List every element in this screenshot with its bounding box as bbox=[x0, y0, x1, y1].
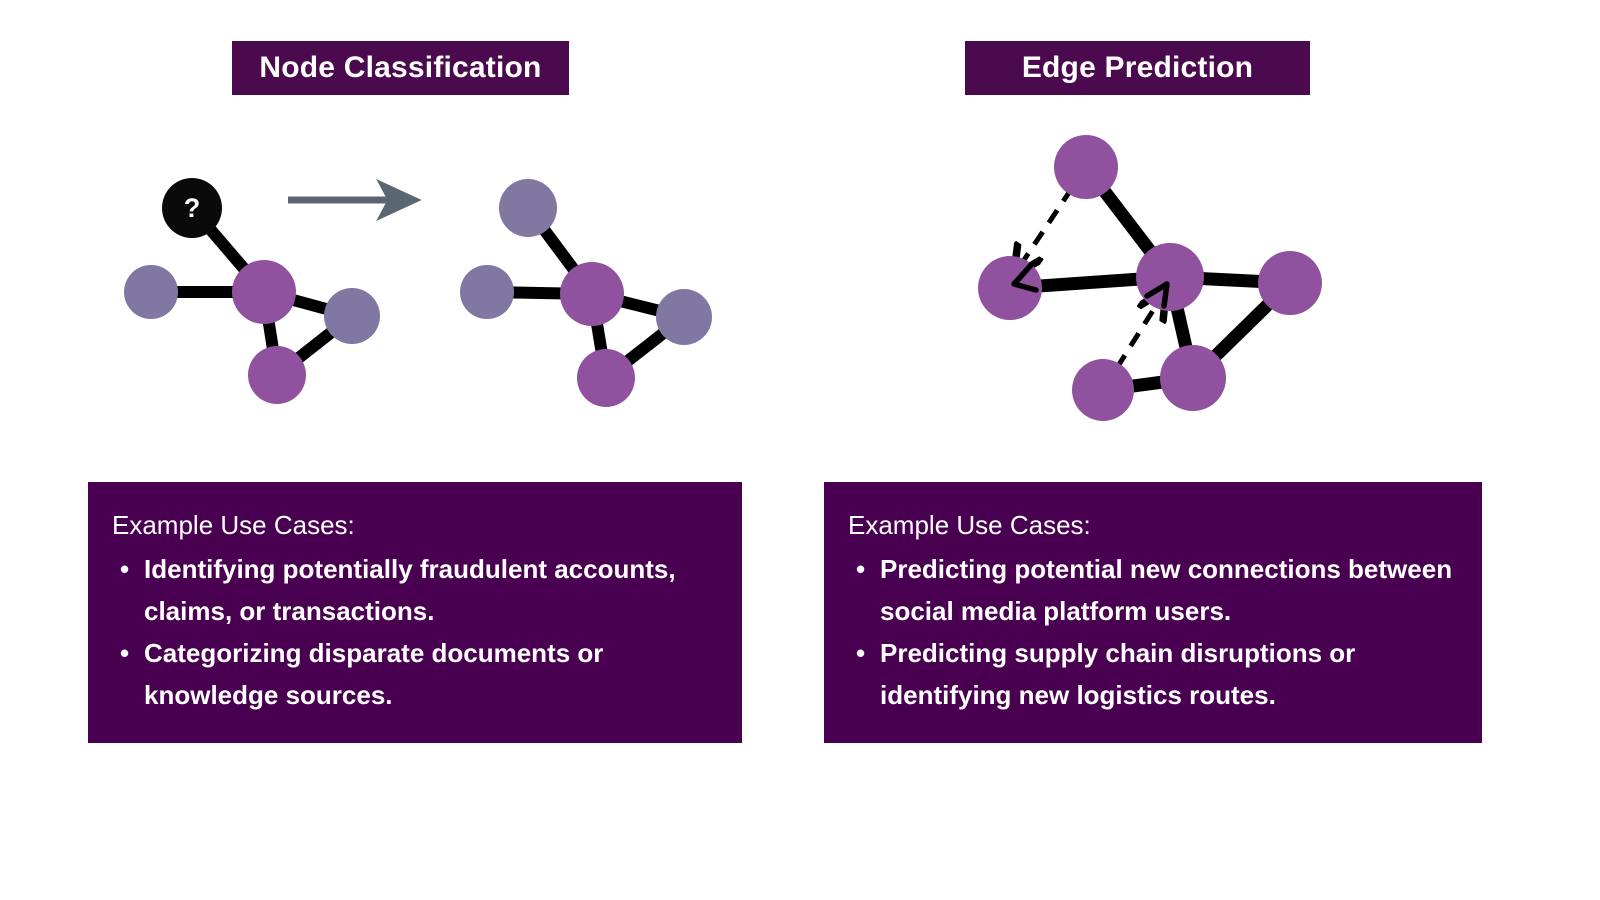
bullet-icon: • bbox=[856, 632, 865, 674]
graph-after bbox=[460, 179, 712, 407]
node-left bbox=[124, 265, 178, 319]
panel-node-classification: Node Classification bbox=[0, 0, 800, 900]
usecase-heading: Example Use Cases: bbox=[112, 508, 720, 542]
usecase-list: • Identifying potentially fraudulent acc… bbox=[112, 548, 720, 716]
node-bottom bbox=[248, 346, 306, 404]
node-bottom bbox=[577, 349, 635, 407]
usecase-list: • Predicting potential new connections b… bbox=[848, 548, 1460, 716]
bullet-icon: • bbox=[120, 632, 129, 674]
node-center bbox=[1136, 243, 1204, 311]
usecase-box-node-classification: Example Use Cases: • Identifying potenti… bbox=[88, 482, 742, 743]
node-bottom-left bbox=[1072, 359, 1134, 421]
node-center bbox=[232, 260, 296, 324]
list-item-label: Predicting potential new connections bet… bbox=[880, 554, 1452, 626]
graph-edge-prediction bbox=[800, 0, 1600, 470]
classified-node bbox=[499, 179, 557, 237]
node-center bbox=[560, 262, 624, 326]
graph-before: ? bbox=[124, 178, 380, 404]
panel-edge-prediction: Edge Prediction bbox=[800, 0, 1600, 900]
graph-node-classification: ? bbox=[0, 0, 800, 470]
list-item: • Predicting supply chain disruptions or… bbox=[848, 632, 1460, 716]
list-item: • Identifying potentially fraudulent acc… bbox=[112, 548, 720, 632]
node-right bbox=[1258, 251, 1322, 315]
bullet-icon: • bbox=[120, 548, 129, 590]
unknown-node-label: ? bbox=[184, 193, 201, 223]
node-left bbox=[460, 265, 514, 319]
list-item-label: Categorizing disparate documents or know… bbox=[144, 638, 603, 710]
list-item: • Categorizing disparate documents or kn… bbox=[112, 632, 720, 716]
usecase-heading: Example Use Cases: bbox=[848, 508, 1460, 542]
node-top bbox=[1054, 135, 1118, 199]
node-right bbox=[656, 289, 712, 345]
list-item-label: Predicting supply chain disruptions or i… bbox=[880, 638, 1355, 710]
list-item: • Predicting potential new connections b… bbox=[848, 548, 1460, 632]
node-right bbox=[324, 288, 380, 344]
node-bottom-right bbox=[1160, 345, 1226, 411]
bullet-icon: • bbox=[856, 548, 865, 590]
list-item-label: Identifying potentially fraudulent accou… bbox=[144, 554, 676, 626]
usecase-box-edge-prediction: Example Use Cases: • Predicting potentia… bbox=[824, 482, 1482, 743]
